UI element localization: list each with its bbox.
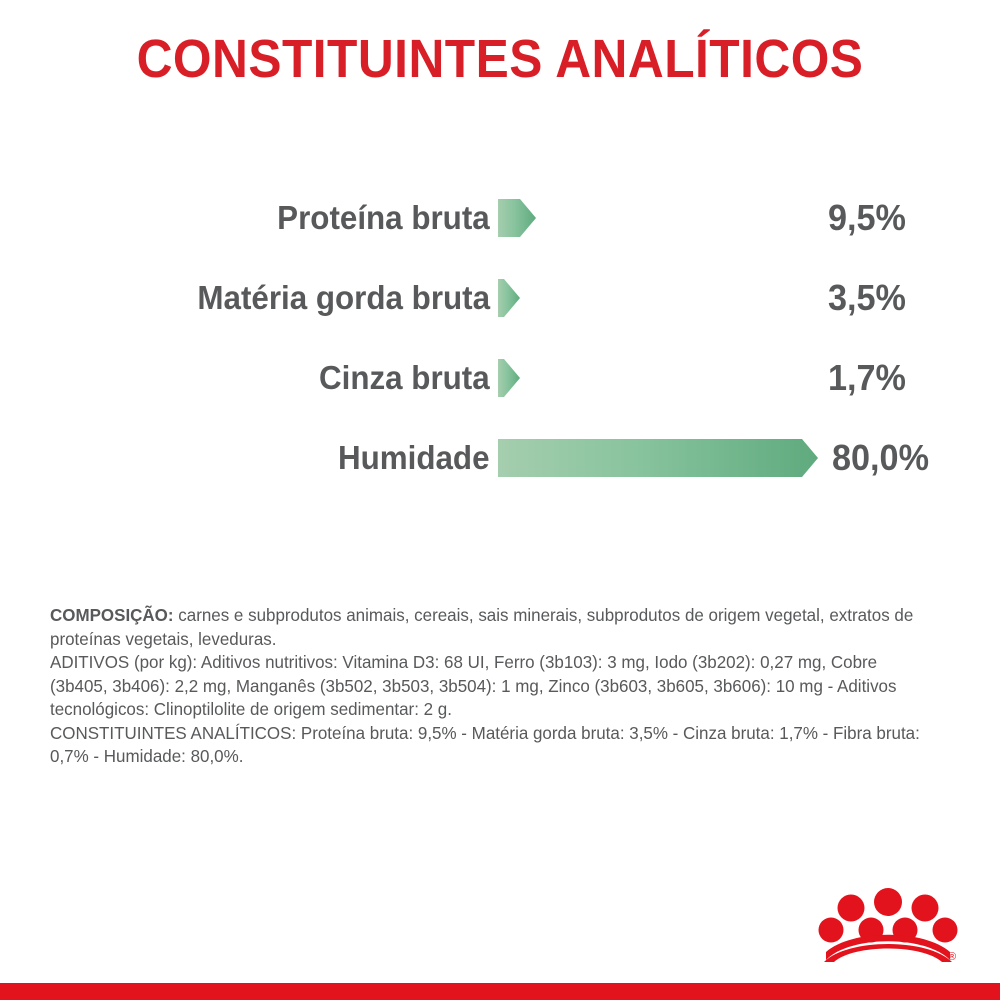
chart-bar-track	[498, 338, 520, 418]
composition-ingredients: carnes e subprodutos animais, cereais, s…	[50, 605, 913, 649]
chart-row-label: Matéria gorda bruta	[197, 258, 490, 338]
chart-bar	[498, 199, 536, 237]
chart-row: Cinza bruta1,7%	[0, 338, 1000, 418]
composition-heading: COMPOSIÇÃO:	[50, 605, 174, 625]
chart-bar	[498, 439, 818, 477]
royal-canin-logo: ®	[818, 878, 958, 964]
page-title: CONSTITUINTES ANALÍTICOS	[40, 28, 960, 90]
chart-row-label: Cinza bruta	[319, 338, 490, 418]
chart-value-label: 9,5%	[828, 178, 906, 258]
composition-ingredients-line: COMPOSIÇÃO: carnes e subprodutos animais…	[50, 604, 928, 651]
chart-value-label: 3,5%	[828, 258, 906, 338]
registered-trademark-symbol: ®	[948, 951, 956, 963]
bottom-red-bar	[0, 983, 1000, 1000]
chart-row: Matéria gorda bruta3,5%	[0, 258, 1000, 338]
chart-row: Proteína bruta9,5%	[0, 178, 1000, 258]
chart-bar-track	[498, 418, 818, 498]
composition-analytical: CONSTITUINTES ANALÍTICOS: Proteína bruta…	[50, 722, 928, 769]
chart-row-label: Proteína bruta	[277, 178, 490, 258]
chart-value-label: 80,0%	[832, 418, 929, 498]
crown-icon	[819, 888, 958, 962]
composition-block: COMPOSIÇÃO: carnes e subprodutos animais…	[50, 604, 928, 769]
analytical-constituents-page: CONSTITUINTES ANALÍTICOS Proteína bruta9…	[0, 0, 1000, 1000]
chart-bar-track	[498, 258, 520, 338]
analytical-constituents-chart: Proteína bruta9,5%Matéria gorda bruta3,5…	[0, 178, 1000, 498]
chart-bar-track	[498, 178, 536, 258]
chart-row: Humidade80,0%	[0, 418, 1000, 498]
chart-bar	[498, 279, 520, 317]
chart-row-label: Humidade	[338, 418, 490, 498]
chart-value-label: 1,7%	[828, 338, 906, 418]
composition-additives: ADITIVOS (por kg): Aditivos nutritivos: …	[50, 651, 928, 722]
chart-bar	[498, 359, 520, 397]
